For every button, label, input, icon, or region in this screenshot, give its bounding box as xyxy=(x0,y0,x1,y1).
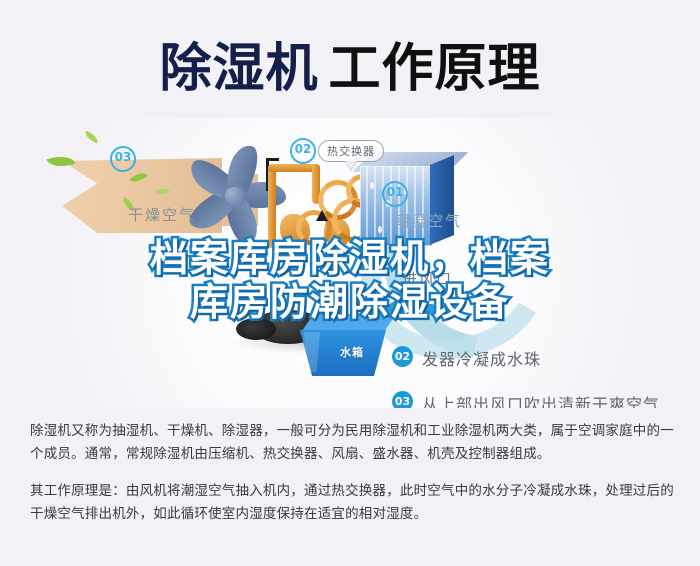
label-dry-air: 干燥空气 xyxy=(128,204,196,225)
step-item: 02 发器冷凝成水珠 xyxy=(392,342,692,387)
page-title: 除湿机工作原理 xyxy=(0,26,700,101)
body-paragraph-1: 除湿机又称为抽湿机、干燥机、除湿器，一般可分为民用除湿机和工业除湿机两大类，属于… xyxy=(30,420,676,466)
fan-hub xyxy=(222,184,246,208)
body-copy: 除湿机又称为抽湿机、干燥机、除湿器，一般可分为民用除湿机和工业除湿机两大类，属于… xyxy=(30,420,676,526)
copper-pipe xyxy=(268,164,276,248)
water-tank-label: 水箱 xyxy=(340,344,364,360)
badge-01: 01 xyxy=(382,181,408,207)
badge-02: 02 xyxy=(290,138,316,164)
heat-exchanger-illustration xyxy=(352,152,460,252)
step-badge-02: 02 xyxy=(392,346,413,367)
step-item: 03 从上部出风口吹出清新干爽空气 xyxy=(392,387,692,408)
page-title-part1: 除湿机 xyxy=(159,39,318,99)
badge-03: 03 xyxy=(110,146,136,172)
infographic-page: 除湿机工作原理 xyxy=(0,0,700,566)
body-paragraph-2: 其工作原理是：由风机将潮湿空气抽入机内，通过热交换器，此时空气中的水分子冷凝成水… xyxy=(30,480,676,526)
water-tank-illustration: 水箱 xyxy=(300,314,396,376)
step-item xyxy=(392,286,692,342)
illustration-stage: 水箱 03 02 01 热交换器 干燥空气 潮湿空气 进风口 02 发器冷凝成水… xyxy=(0,118,700,408)
page-title-part2: 工作原理 xyxy=(329,39,541,99)
airflow-arrow-up-icon xyxy=(316,210,328,221)
step-badge-03: 03 xyxy=(392,391,413,408)
label-moist-air: 潮湿空气 xyxy=(394,210,462,231)
step-text-03: 从上部出风口吹出清新干爽空气 xyxy=(422,391,660,408)
step-list: 02 发器冷凝成水珠 03 从上部出风口吹出清新干爽空气 xyxy=(392,286,692,408)
callout-heat-exchanger: 热交换器 xyxy=(318,140,384,162)
step-text-02: 发器冷凝成水珠 xyxy=(422,346,541,370)
heat-exchanger-side xyxy=(430,155,454,245)
machine-wheel xyxy=(236,318,276,340)
